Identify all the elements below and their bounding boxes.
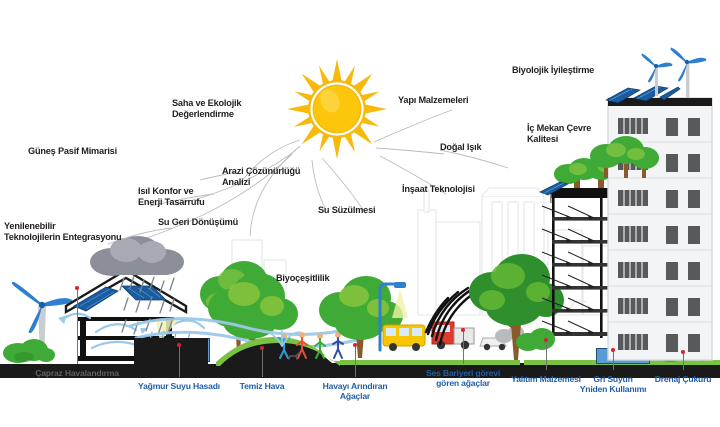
label-gunes-pasif-mimarisi: Güneş Pasif Mimarisi bbox=[28, 146, 117, 157]
sun-icon bbox=[284, 56, 390, 162]
label-havayi-arindiran-agaclar: Havayı Arındıran Ağaçlar bbox=[309, 381, 401, 401]
label-biyolojik-iyilestirme: Biyolojik İyileştirme bbox=[512, 65, 594, 76]
fountain-icon bbox=[262, 322, 302, 348]
label-saha-ve-ekolojik-degerlendirme: Saha ve Ekolojik Değerlendirme bbox=[172, 98, 241, 120]
callout-dot bbox=[75, 286, 79, 290]
callout-stem bbox=[262, 348, 263, 377]
label-yapi-malzemeleri: Yapı Malzemeleri bbox=[398, 95, 468, 106]
callout-stem bbox=[179, 345, 180, 377]
callout-stem bbox=[355, 345, 356, 377]
callout-dot bbox=[353, 343, 357, 347]
infographic-canvas: Güneş Pasif Mimarisi Saha ve Ekolojik De… bbox=[0, 0, 720, 427]
label-insaat-teknolojisi: İnşaat Teknolojisi bbox=[402, 184, 475, 195]
label-capraz-havalandirma: Çapraz Havalandırma bbox=[22, 368, 132, 378]
callout-dot bbox=[681, 350, 685, 354]
label-dogal-isik: Doğal Işık bbox=[440, 142, 481, 153]
apartment-tower bbox=[606, 84, 718, 362]
callout-stem bbox=[77, 288, 78, 364]
callout-dot bbox=[611, 348, 615, 352]
label-yenilenebilir-teknolojilerin-entegrasyonu: Yenilenebilir Teknolojilerin Entegrasyon… bbox=[4, 221, 121, 243]
callout-stem bbox=[463, 330, 464, 364]
callout-stem bbox=[613, 350, 614, 370]
wind-turbine-icon bbox=[668, 46, 708, 98]
label-drenaj-cukuru: Drenaj Çukuru bbox=[644, 374, 720, 384]
label-su-suzulmesi: Su Süzülmesi bbox=[318, 205, 375, 216]
label-temiz-hava: Temiz Hava bbox=[222, 381, 302, 391]
label-biyocesitlilik: Biyoçeşitlilik bbox=[276, 273, 329, 284]
callout-stem bbox=[683, 352, 684, 370]
callout-dot bbox=[260, 346, 264, 350]
callout-stem bbox=[546, 340, 547, 370]
shrub-icon bbox=[516, 324, 556, 352]
label-isil-konfor-ve-enerji-tasarrufu: Isıl Konfor ve Enerji Tasarrufu bbox=[138, 186, 205, 208]
callout-dot bbox=[544, 338, 548, 342]
label-su-geri-donusumu: Su Geri Dönüşümü bbox=[158, 217, 238, 228]
callout-dot bbox=[461, 328, 465, 332]
label-yagmur-suyu-hasadi: Yağmur Suyu Hasadı bbox=[126, 381, 232, 391]
label-arazi-cozunurlugu-analizi: Arazi Çözünürlüğü Analizi bbox=[222, 166, 300, 188]
callout-dot bbox=[177, 343, 181, 347]
label-ic-mekan-cevre-kalitesi: İç Mekan Çevre Kalitesi bbox=[527, 123, 591, 145]
tree-icon bbox=[588, 130, 662, 180]
